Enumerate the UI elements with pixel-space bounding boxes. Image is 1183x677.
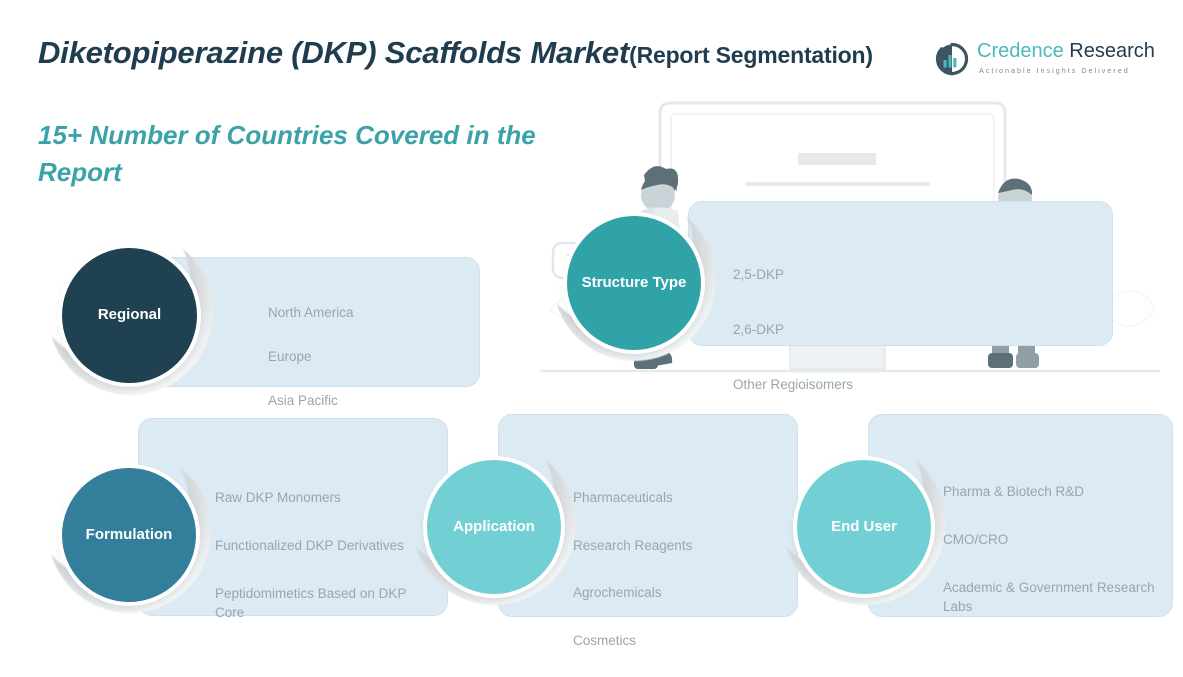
segment-items-application: Pharmaceuticals Research Reagents Agroch… — [573, 462, 788, 677]
list-item: Functionalized DKP Derivatives — [215, 536, 435, 556]
list-item: Pharma & Biotech R&D — [943, 482, 1158, 502]
segment-circle-label[interactable]: Formulation — [62, 468, 196, 602]
segment-circle-label[interactable]: Application — [427, 460, 561, 594]
list-item: 2,5-DKP — [733, 261, 1033, 289]
list-item: Agrochemicals — [573, 581, 788, 605]
logo-word-research: Research — [1064, 40, 1155, 62]
segment-items-end-user: Pharma & Biotech R&D CMO/CRO Academic & … — [943, 462, 1158, 646]
segment-regional[interactable]: Regional North America Europe Asia Pacif… — [40, 230, 480, 405]
logo-wordmark: Credence Research — [977, 40, 1155, 63]
page-subtitle: 15+ Number of Countries Covered in the R… — [38, 117, 558, 191]
segment-items-formulation: Raw DKP Monomers Functionalized DKP Deri… — [215, 468, 435, 652]
page-title-main: Diketopiperazine (DKP) Scaffolds Market — [38, 35, 629, 70]
list-item: Europe — [268, 346, 468, 368]
infographic-canvas: Diketopiperazine (DKP) Scaffolds Market(… — [0, 0, 1183, 677]
page-title: Diketopiperazine (DKP) Scaffolds Market(… — [38, 32, 898, 73]
logo-tagline: Actionable Insights Delivered — [979, 66, 1130, 75]
list-item: Academic & Government Research Labs — [943, 578, 1158, 617]
bar-chart-circle-icon — [935, 42, 969, 76]
list-item: Research Reagents — [573, 534, 788, 558]
segment-end-user[interactable]: End User Pharma & Biotech R&D CMO/CRO Ac… — [775, 410, 1175, 625]
segment-structure-type[interactable]: Structure Type 2,5-DKP 2,6-DKP Other Reg… — [545, 190, 1115, 365]
segment-items-structure-type: 2,5-DKP 2,6-DKP Other Regioisomers — [733, 233, 1033, 427]
list-item: Raw DKP Monomers — [215, 488, 435, 508]
list-item: Cosmetics — [573, 629, 788, 653]
page-title-paren: (Report Segmentation) — [629, 42, 873, 68]
list-item: Peptidomimetics Based on DKP Core — [215, 584, 435, 623]
segment-circle-label[interactable]: Regional — [62, 248, 197, 383]
list-item: CMO/CRO — [943, 530, 1158, 550]
list-item: Pharmaceuticals — [573, 486, 788, 510]
segment-circle-label[interactable]: End User — [797, 460, 931, 594]
logo-word-credence: Credence — [977, 40, 1064, 62]
list-item: Other Regioisomers — [733, 371, 1033, 399]
credence-research-logo: Credence Research Actionable Insights De… — [935, 40, 1135, 84]
list-item: North America — [268, 302, 468, 324]
list-item: Asia Pacific — [268, 390, 468, 412]
segment-application[interactable]: Application Pharmaceuticals Research Rea… — [405, 410, 805, 625]
segment-formulation[interactable]: Formulation Raw DKP Monomers Functionali… — [40, 418, 455, 623]
segment-circle-label[interactable]: Structure Type — [567, 216, 701, 350]
list-item: 2,6-DKP — [733, 316, 1033, 344]
